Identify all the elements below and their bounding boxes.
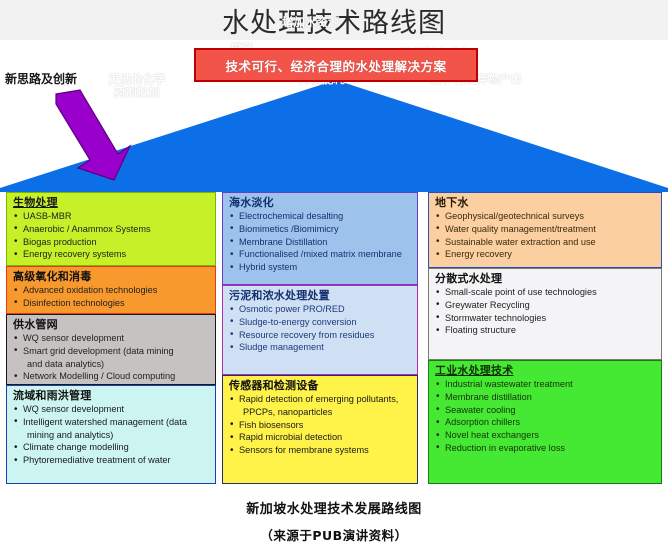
new-ideas-label: 新思路及创新 bbox=[5, 70, 77, 87]
card-title: 污泥和浓水处理处置 bbox=[229, 289, 413, 303]
roadmap-figure: 水处理技术路线图 增加水资源 提高 并保障水质 降低制水成本 更低的化学 药剂投… bbox=[0, 0, 668, 550]
column-left: 生物处理 UASB-MBR Anaerobic / Anammox System… bbox=[6, 192, 216, 484]
card-sensors-and-detection-equipment: 传感器和检测设备 Rapid detection of emerging pol… bbox=[222, 375, 418, 484]
list-item: Sludge management bbox=[230, 342, 413, 354]
list-item: Hybrid system bbox=[230, 262, 413, 274]
list-item: Small-scale point of use technologies bbox=[436, 287, 657, 299]
list-item: Sludge-to-energy conversion bbox=[230, 317, 413, 329]
list-item: Floating structure bbox=[436, 325, 657, 337]
list-item: Membrane Distillation bbox=[230, 237, 413, 249]
list-item: Greywater Recycling bbox=[436, 300, 657, 312]
pyramid-label-increase-water-resources: 增加水资源 bbox=[282, 16, 340, 29]
goal-text: 技术可行、经济合理的水处理解决方案 bbox=[225, 56, 446, 75]
list-item: Smart grid development (data mining bbox=[14, 346, 211, 358]
list-item: Functionalised /mixed matrix membrane bbox=[230, 249, 413, 261]
card-water-supply-network: 供水管网 WQ sensor development Smart grid de… bbox=[6, 314, 216, 385]
list-item: Water quality management/treatment bbox=[436, 224, 657, 236]
card-seawater-desalination: 海水淡化 Electrochemical desalting Biomimeti… bbox=[222, 192, 418, 285]
card-list: Advanced oxidation technologies Disinfec… bbox=[12, 285, 211, 309]
card-title: 供水管网 bbox=[13, 318, 211, 332]
list-item: Adsorption chillers bbox=[436, 417, 657, 429]
card-title: 地下水 bbox=[435, 196, 657, 210]
card-title: 流域和雨洪管理 bbox=[13, 389, 211, 403]
list-item: Biogas production bbox=[14, 237, 211, 249]
list-item: Osmotic power PRO/RED bbox=[230, 304, 413, 316]
card-title: 高级氧化和消毒 bbox=[13, 270, 211, 284]
list-item: Resource recovery from residues bbox=[230, 330, 413, 342]
list-item: Rapid microbial detection bbox=[230, 432, 413, 444]
card-list: UASB-MBR Anaerobic / Anammox Systems Bio… bbox=[12, 211, 211, 261]
list-item: Energy recovery systems bbox=[14, 249, 211, 261]
card-industrial-water-treatment: 工业水处理技术 Industrial wastewater treatment … bbox=[428, 360, 662, 484]
card-biological-treatment: 生物处理 UASB-MBR Anaerobic / Anammox System… bbox=[6, 192, 216, 266]
list-item: Electrochemical desalting bbox=[230, 211, 413, 223]
card-title: 工业水处理技术 bbox=[435, 364, 657, 378]
list-item-continuation: and data analytics) bbox=[14, 359, 211, 371]
down-right-arrow-icon bbox=[52, 88, 132, 183]
card-list: Industrial wastewater treatment Membrane… bbox=[434, 379, 657, 455]
goal-box: 技术可行、经济合理的水处理解决方案 bbox=[194, 48, 478, 82]
card-list: WQ sensor development Intelligent waters… bbox=[12, 404, 211, 467]
card-list: WQ sensor development Smart grid develop… bbox=[12, 333, 211, 383]
list-item: Fish biosensors bbox=[230, 420, 413, 432]
list-item: Climate change modelling bbox=[14, 442, 211, 454]
list-item: Disinfection technologies bbox=[14, 298, 211, 310]
card-list: Geophysical/geotechnical surveys Water q… bbox=[434, 211, 657, 261]
card-list: Small-scale point of use technologies Gr… bbox=[434, 287, 657, 337]
list-item: Novel heat exchangers bbox=[436, 430, 657, 442]
list-item: Stormwater technologies bbox=[436, 313, 657, 325]
list-item: Reduction in evaporative loss bbox=[436, 443, 657, 455]
list-item: Sensors for membrane systems bbox=[230, 445, 413, 457]
list-item: Seawater cooling bbox=[436, 405, 657, 417]
card-title: 生物处理 bbox=[13, 196, 211, 210]
list-item-continuation: PPCPs, nanoparticles bbox=[230, 407, 413, 419]
card-list: Electrochemical desalting Biomimetics /B… bbox=[228, 211, 413, 274]
card-list: Rapid detection of emerging pollutants, … bbox=[228, 394, 413, 457]
column-right: 地下水 Geophysical/geotechnical surveys Wat… bbox=[428, 192, 662, 484]
list-item: Intelligent watershed management (data bbox=[14, 417, 211, 429]
list-item: Industrial wastewater treatment bbox=[436, 379, 657, 391]
card-sludge-and-brine-treatment: 污泥和浓水处理处置 Osmotic power PRO/RED Sludge-t… bbox=[222, 285, 418, 375]
list-item: Anaerobic / Anammox Systems bbox=[14, 224, 211, 236]
card-list: Osmotic power PRO/RED Sludge-to-energy c… bbox=[228, 304, 413, 354]
column-middle: 海水淡化 Electrochemical desalting Biomimeti… bbox=[222, 192, 418, 484]
list-item: WQ sensor development bbox=[14, 404, 211, 416]
card-watershed-stormwater-management: 流域和雨洪管理 WQ sensor development Intelligen… bbox=[6, 385, 216, 484]
caption-sub: （来源于PUB演讲资料） bbox=[0, 525, 668, 544]
list-item: WQ sensor development bbox=[14, 333, 211, 345]
list-item-continuation: mining and analytics) bbox=[14, 430, 211, 442]
card-title: 分散式水处理 bbox=[435, 272, 657, 286]
card-advanced-oxidation-disinfection: 高级氧化和消毒 Advanced oxidation technologies … bbox=[6, 266, 216, 314]
figure-caption: 新加坡水处理技术发展路线图 （来源于PUB演讲资料） bbox=[0, 498, 668, 544]
card-decentralised-water-treatment: 分散式水处理 Small-scale point of use technolo… bbox=[428, 268, 662, 360]
card-title: 传感器和检测设备 bbox=[229, 379, 413, 393]
card-groundwater: 地下水 Geophysical/geotechnical surveys Wat… bbox=[428, 192, 662, 268]
list-item: Network Modelling / Cloud computing bbox=[14, 371, 211, 383]
list-item: Phytoremediative treatment of water bbox=[14, 455, 211, 467]
card-title: 海水淡化 bbox=[229, 196, 413, 210]
list-item: Membrane distillation bbox=[436, 392, 657, 404]
list-item: Energy recovery bbox=[436, 249, 657, 261]
list-item: Rapid detection of emerging pollutants, bbox=[230, 394, 413, 406]
caption-main: 新加坡水处理技术发展路线图 bbox=[0, 498, 668, 517]
list-item: Biomimetics /Biomimicry bbox=[230, 224, 413, 236]
list-item: Advanced oxidation technologies bbox=[14, 285, 211, 297]
list-item: Geophysical/geotechnical surveys bbox=[436, 211, 657, 223]
list-item: UASB-MBR bbox=[14, 211, 211, 223]
list-item: Sustainable water extraction and use bbox=[436, 237, 657, 249]
